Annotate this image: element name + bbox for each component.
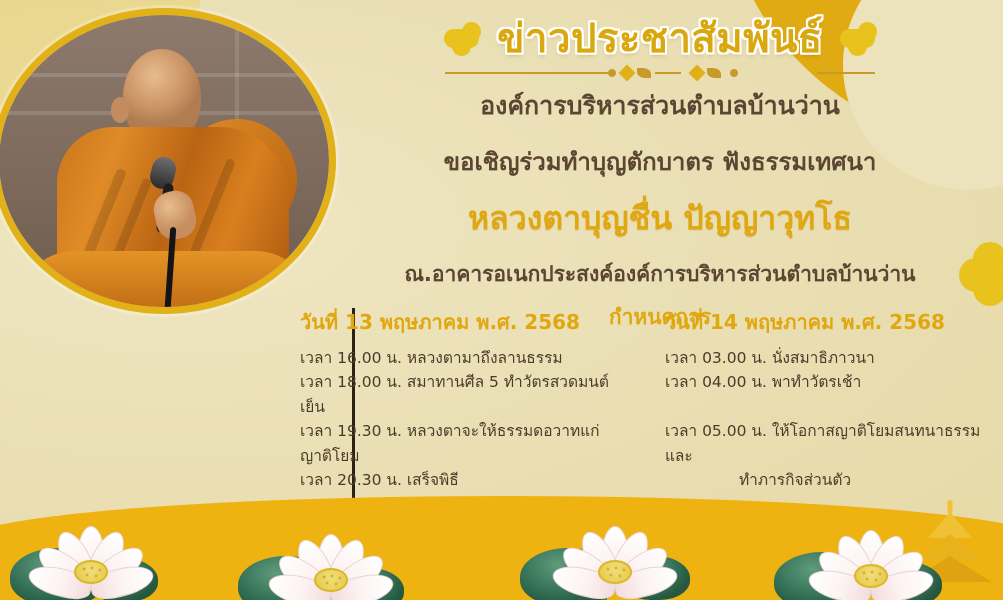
list-item: เวลา 03.00 น. นั่งสมาธิภาวนา xyxy=(665,346,990,370)
announcement-poster: ข่าวประชาสัมพันธ์ องค์การบริหารส่วนตำบลบ… xyxy=(0,0,1003,600)
list-item: เวลา 19.30 น. หลวงตาจะให้ธรรมดอวาทแก่ญาต… xyxy=(300,419,629,468)
lotus-flower-icon xyxy=(256,502,406,600)
lotus-flower-icon xyxy=(16,494,166,600)
page-title: ข่าวประชาสัมพันธ์ xyxy=(497,16,823,62)
quatrefoil-icon xyxy=(959,244,1003,306)
list-item: เวลา 20.30 น. เสร็จพิธี xyxy=(300,468,629,492)
list-item: เวลา 16.00 น. หลวงตามาถึงลานธรรม xyxy=(300,346,629,370)
invitation-text: ขอเชิญร่วมทำบุญตักบาตร ฟังธรรมเทศนา xyxy=(330,142,990,181)
monk-photo xyxy=(0,8,336,314)
poster-header: ข่าวประชาสัมพันธ์ องค์การบริหารส่วนตำบลบ… xyxy=(330,16,990,334)
day-heading: วันที่ 14 พฤษภาคม พ.ศ. 2568 xyxy=(665,306,990,338)
day-heading: วันที่ 13 พฤษภาคม พ.ศ. 2568 xyxy=(300,306,629,338)
lotus-flower-icon xyxy=(540,494,690,600)
lotus-flower-icon xyxy=(796,498,946,600)
quatrefoil-icon xyxy=(841,22,875,56)
title-divider xyxy=(445,66,875,80)
list-item-continuation: ทำภารกิจส่วนตัว xyxy=(665,468,990,492)
quatrefoil-icon xyxy=(445,22,479,56)
organization-name: องค์การบริหารส่วนตำบลบ้านว่าน xyxy=(330,86,990,126)
monk-name: หลวงตาบุญชื่น ปัญญาวุทโธ xyxy=(330,193,990,244)
list-item: เวลา 18.00 น. สมาทานศีล 5 ทำวัตรสวดมนต์เ… xyxy=(300,370,629,419)
venue-text: ณ.อาคารอเนกประสงค์องค์การบริหารส่วนตำบลบ… xyxy=(330,258,990,291)
list-item: เวลา 04.00 น. พาทำวัตรเช้า xyxy=(665,370,990,394)
schedule-list: เวลา 16.00 น. หลวงตามาถึงลานธรรม เวลา 18… xyxy=(300,346,629,493)
